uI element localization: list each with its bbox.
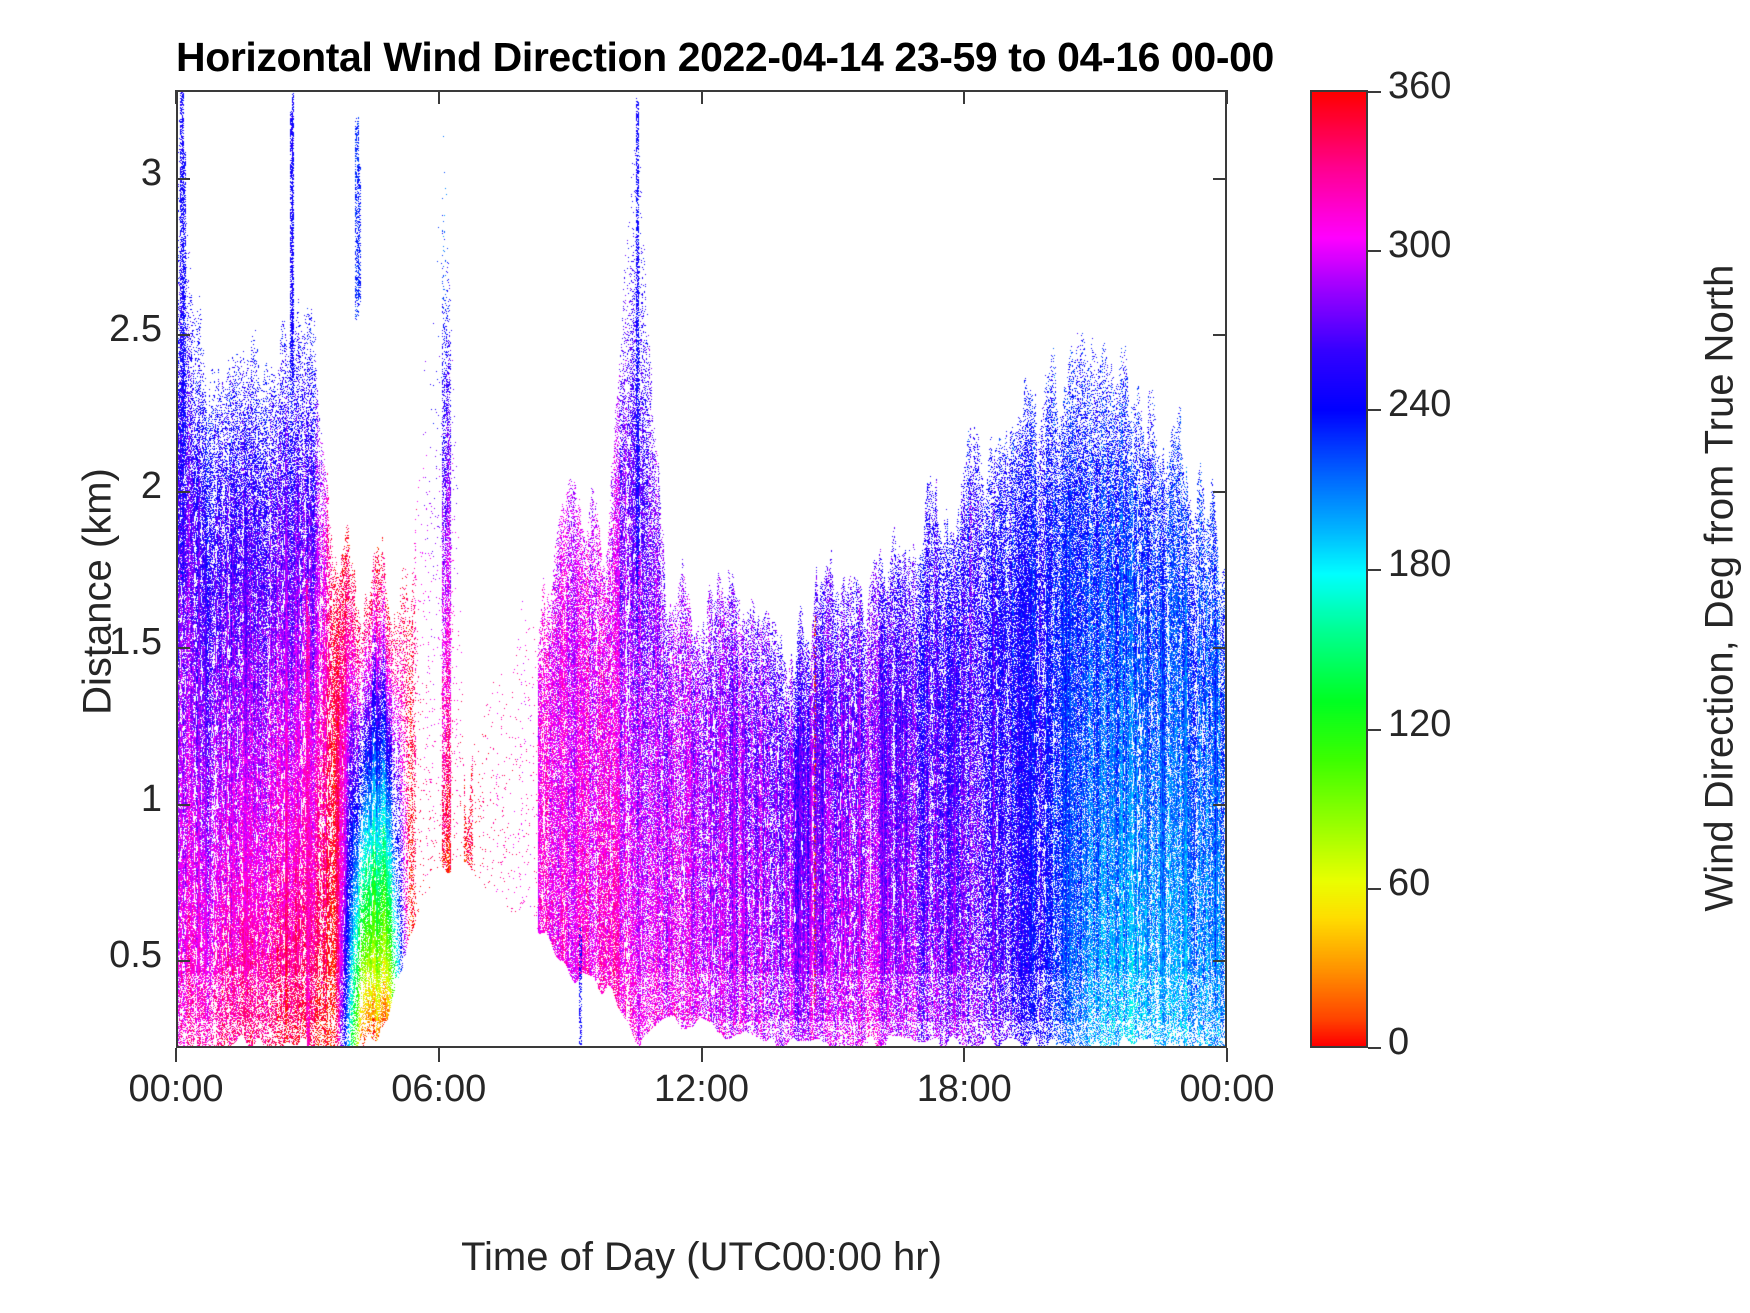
x-tick-label: 12:00 (592, 1068, 812, 1111)
y-tick-label: 0.5 (109, 934, 162, 977)
y-tick-label: 2.5 (109, 308, 162, 351)
y-tick-mark-right (1213, 334, 1227, 336)
y-tick-mark (176, 334, 190, 336)
y-tick-mark (176, 491, 190, 493)
colorbar-tick-mark (1368, 888, 1381, 890)
y-tick-mark-right (1213, 804, 1227, 806)
wind-direction-heatmap (178, 92, 1225, 1046)
plot-axes-area (176, 90, 1227, 1048)
x-tick-mark-top (175, 90, 177, 104)
x-tick-label: 00:00 (1117, 1068, 1337, 1111)
y-tick-label: 1 (141, 778, 162, 821)
x-tick-mark (963, 1048, 965, 1062)
colorbar-tick-label: 300 (1388, 224, 1451, 267)
y-tick-label: 3 (141, 152, 162, 195)
y-tick-mark-right (1213, 491, 1227, 493)
colorbar-tick-label: 360 (1388, 65, 1451, 108)
x-tick-mark-top (701, 90, 703, 104)
colorbar-tick-mark (1368, 569, 1381, 571)
y-tick-mark (176, 960, 190, 962)
x-tick-mark (1226, 1048, 1228, 1062)
y-tick-mark (176, 647, 190, 649)
y-tick-label: 2 (141, 465, 162, 508)
colorbar-tick-mark (1368, 1047, 1381, 1049)
y-tick-label: 1.5 (109, 621, 162, 664)
x-tick-label: 06:00 (329, 1068, 549, 1111)
x-tick-mark-top (438, 90, 440, 104)
wind-direction-figure: Horizontal Wind Direction 2022-04-14 23-… (0, 0, 1750, 1313)
colorbar-tick-mark (1368, 409, 1381, 411)
x-axis-label: Time of Day (UTC00:00 hr) (176, 1235, 1227, 1280)
y-tick-mark-right (1213, 960, 1227, 962)
colorbar-tick-mark (1368, 91, 1381, 93)
x-tick-mark (175, 1048, 177, 1062)
x-tick-label: 18:00 (854, 1068, 1074, 1111)
x-tick-mark-top (963, 90, 965, 104)
colorbar-tick-label: 240 (1388, 383, 1451, 426)
colorbar-label: Wind Direction, Deg from True North (1698, 272, 1743, 912)
y-tick-mark-right (1213, 647, 1227, 649)
colorbar-tick-label: 180 (1388, 543, 1451, 586)
colorbar-gradient (1312, 92, 1366, 1046)
x-tick-mark (438, 1048, 440, 1062)
colorbar-tick-label: 120 (1388, 703, 1451, 746)
x-tick-mark-top (1226, 90, 1228, 104)
y-tick-mark-right (1213, 178, 1227, 180)
colorbar-tick-label: 60 (1388, 862, 1430, 905)
colorbar-tick-mark (1368, 250, 1381, 252)
colorbar-tick-label: 0 (1388, 1021, 1409, 1064)
x-tick-label: 00:00 (66, 1068, 286, 1111)
y-tick-mark (176, 804, 190, 806)
x-tick-mark (701, 1048, 703, 1062)
colorbar (1310, 90, 1368, 1048)
y-axis-label: Distance (km) (76, 292, 121, 892)
colorbar-tick-mark (1368, 729, 1381, 731)
page-title: Horizontal Wind Direction 2022-04-14 23-… (176, 34, 1227, 81)
y-tick-mark (176, 178, 190, 180)
